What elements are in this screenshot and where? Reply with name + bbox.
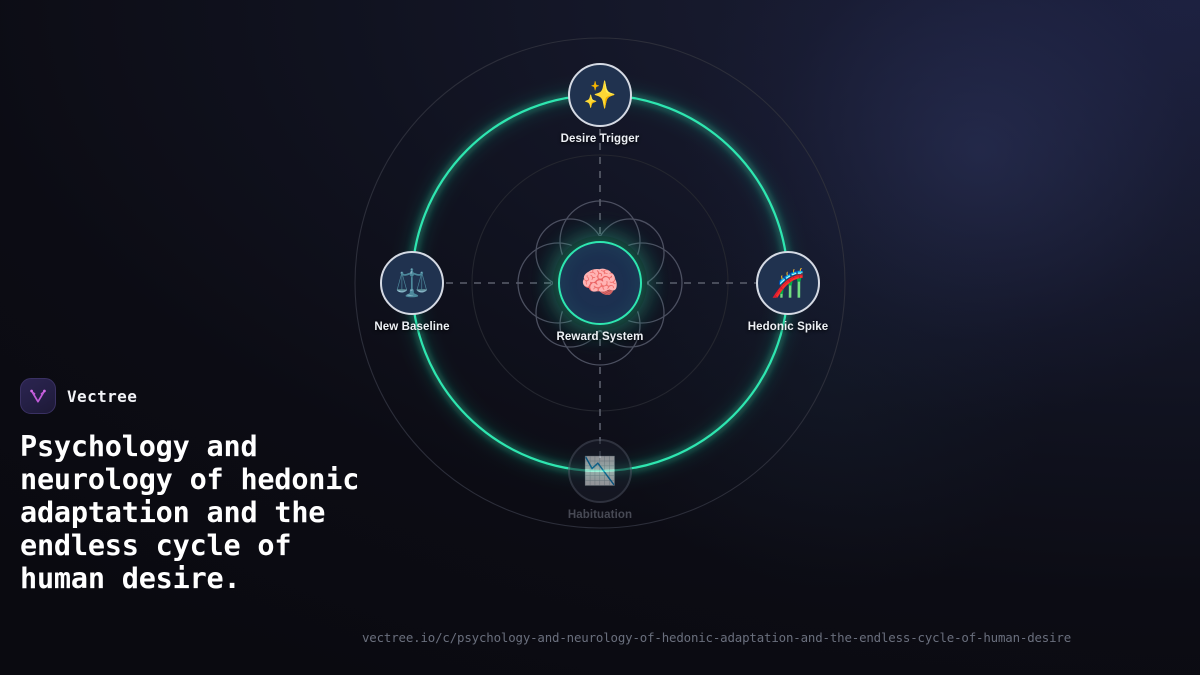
roller-coaster-icon: 🎢 [756, 251, 820, 315]
slide-canvas: ✨ Desire Trigger 🎢 Hedonic Spike 📉 Habit… [0, 0, 1200, 675]
node-label-desire-trigger: Desire Trigger [470, 133, 730, 145]
vectree-v-glyph [27, 385, 49, 407]
node-label-habituation: Habituation [470, 509, 730, 521]
chart-decreasing-icon: 📉 [568, 439, 632, 503]
page-title: Psychology and neurology of hedonic adap… [20, 430, 360, 595]
sparkles-icon: ✨ [568, 63, 632, 127]
brain-icon: 🧠 [558, 241, 642, 325]
brand-row: Vectree [20, 378, 360, 414]
vectree-v-logo-icon [20, 378, 56, 414]
brand-block: Vectree Psychology and neurology of hedo… [20, 378, 360, 595]
balance-scale-icon: ⚖️ [380, 251, 444, 315]
footer-url: vectree.io/c/psychology-and-neurology-of… [362, 630, 1071, 645]
node-label-reward-system: Reward System [470, 331, 730, 343]
brand-name: Vectree [67, 387, 137, 406]
